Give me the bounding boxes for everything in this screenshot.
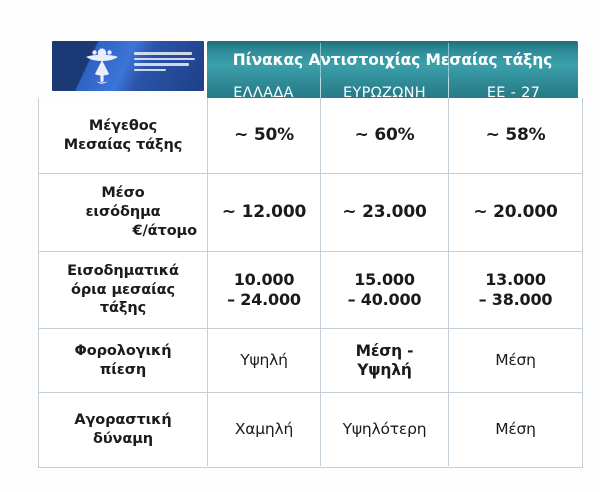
table-row: Μέγεθος Μεσαίας τάξης ~ 50% ~ 60% ~ 58% <box>39 98 582 174</box>
caduceus-emblem-icon <box>80 44 124 88</box>
cell-eu27: Μέση <box>449 329 582 392</box>
row-label: Μέσο εισόδημα €/άτομο <box>39 174 208 251</box>
row-label: Εισοδηματικά όρια μεσαίας τάξης <box>39 252 208 328</box>
row-label-line2: όρια μεσαίας <box>43 281 203 300</box>
cell-eu27: 13.000 – 38.000 <box>449 252 582 328</box>
row-label-line2: εισόδημα <box>43 203 203 222</box>
row-label-line2: Μεσαίας τάξης <box>43 136 203 155</box>
row-label-line3: τάξης <box>43 299 203 318</box>
chamber-of-commerce-logo <box>52 41 204 91</box>
row-label-line1: Εισοδηματικά <box>43 262 203 281</box>
cell-eurozone: Μέση - Υψηλή <box>321 329 449 392</box>
cell-greece: 10.000 – 24.000 <box>208 252 321 328</box>
row-label-line1: Φορολογική <box>43 342 203 361</box>
cell-eurozone: ~ 60% <box>321 98 449 173</box>
row-label-unit: €/άτομο <box>43 222 203 241</box>
header-divider-2 <box>448 43 449 77</box>
header-divider-1 <box>320 43 321 77</box>
table-row: Φορολογική πίεση Υψηλή Μέση - Υψηλή Μέση <box>39 329 582 393</box>
row-label-line2: πίεση <box>43 361 203 380</box>
table-title: Πίνακας Αντιστοιχίας Μεσαίας τάξης <box>207 44 578 77</box>
row-label-line1: Μέγεθος <box>43 117 203 136</box>
logo-wordmark <box>134 52 196 80</box>
cell-eurozone: Υψηλότερη <box>321 393 449 466</box>
row-label: Φορολογική πίεση <box>39 329 208 392</box>
cell-greece: Υψηλή <box>208 329 321 392</box>
cell-eurozone: ~ 23.000 <box>321 174 449 251</box>
row-label: Αγοραστική δύναμη <box>39 393 208 466</box>
row-label-line1: Αγοραστική <box>43 411 203 430</box>
comparison-table: Μέγεθος Μεσαίας τάξης ~ 50% ~ 60% ~ 58% … <box>38 98 583 468</box>
cell-eurozone: 15.000 – 40.000 <box>321 252 449 328</box>
cell-eu27: ~ 58% <box>449 98 582 173</box>
cell-eu27: ~ 20.000 <box>449 174 582 251</box>
cell-greece: ~ 12.000 <box>208 174 321 251</box>
cell-eu27: Μέση <box>449 393 582 466</box>
slide-canvas: Πίνακας Αντιστοιχίας Μεσαίας τάξης ΕΛΛΑΔ… <box>0 0 600 492</box>
cell-greece: Χαμηλή <box>208 393 321 466</box>
row-label-line2: δύναμη <box>43 430 203 449</box>
row-label-line1: Μέσο <box>43 184 203 203</box>
cell-greece: ~ 50% <box>208 98 321 173</box>
table-row: Εισοδηματικά όρια μεσαίας τάξης 10.000 –… <box>39 252 582 329</box>
row-label: Μέγεθος Μεσαίας τάξης <box>39 98 208 173</box>
table-row: Αγοραστική δύναμη Χαμηλή Υψηλότερη Μέση <box>39 393 582 466</box>
table-row: Μέσο εισόδημα €/άτομο ~ 12.000 ~ 23.000 … <box>39 174 582 252</box>
